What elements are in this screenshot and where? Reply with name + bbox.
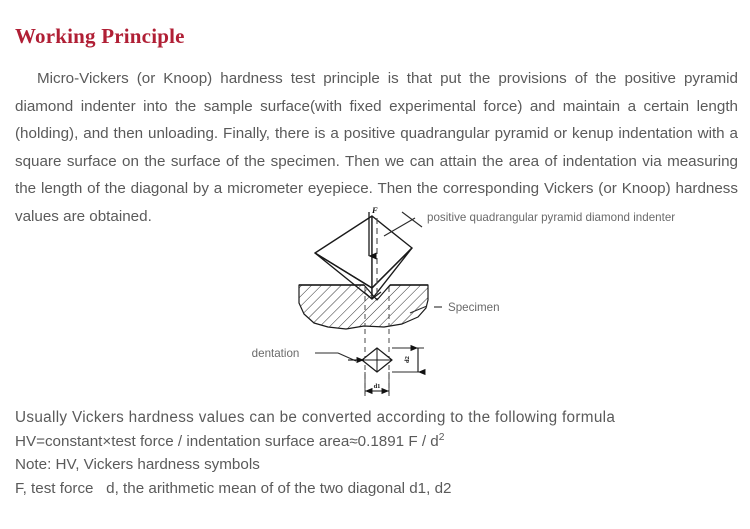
force-label: F	[371, 205, 378, 215]
specimen-block	[299, 285, 428, 329]
dimension-d1-label: d1	[374, 383, 381, 390]
dimension-d1: d1	[365, 372, 389, 396]
formula-equation-text: HV=constant×test force / indentation sur…	[15, 433, 439, 450]
indentation-label: Indentation	[252, 347, 299, 360]
indenter-label: positive quadrangular pyramid diamond in…	[427, 211, 675, 224]
indentation-leader-line	[315, 353, 364, 361]
formula-note-line: Note: HV, Vickers hardness symbols	[15, 453, 740, 477]
formula-legend-line: F, test force d, the arithmetic mean of …	[15, 477, 740, 501]
vickers-indentation-diagram: F positive quadrangular pyramid diamond …	[252, 196, 750, 404]
formula-equation-line: HV=constant×test force / indentation sur…	[15, 430, 740, 454]
page-title: Working Principle	[15, 23, 185, 49]
formula-block: Usually Vickers hardness values can be c…	[15, 406, 740, 500]
dimension-d2-label: d2	[404, 356, 411, 363]
document-page: Working Principle Micro-Vickers (or Knoo…	[0, 0, 750, 529]
indentation-square	[362, 348, 392, 372]
formula-exponent: 2	[439, 431, 445, 442]
formula-intro-line: Usually Vickers hardness values can be c…	[15, 406, 740, 430]
indenter-leader-line	[384, 212, 422, 236]
dimension-d2: d2	[392, 348, 424, 372]
specimen-label: Specimen	[448, 301, 500, 314]
